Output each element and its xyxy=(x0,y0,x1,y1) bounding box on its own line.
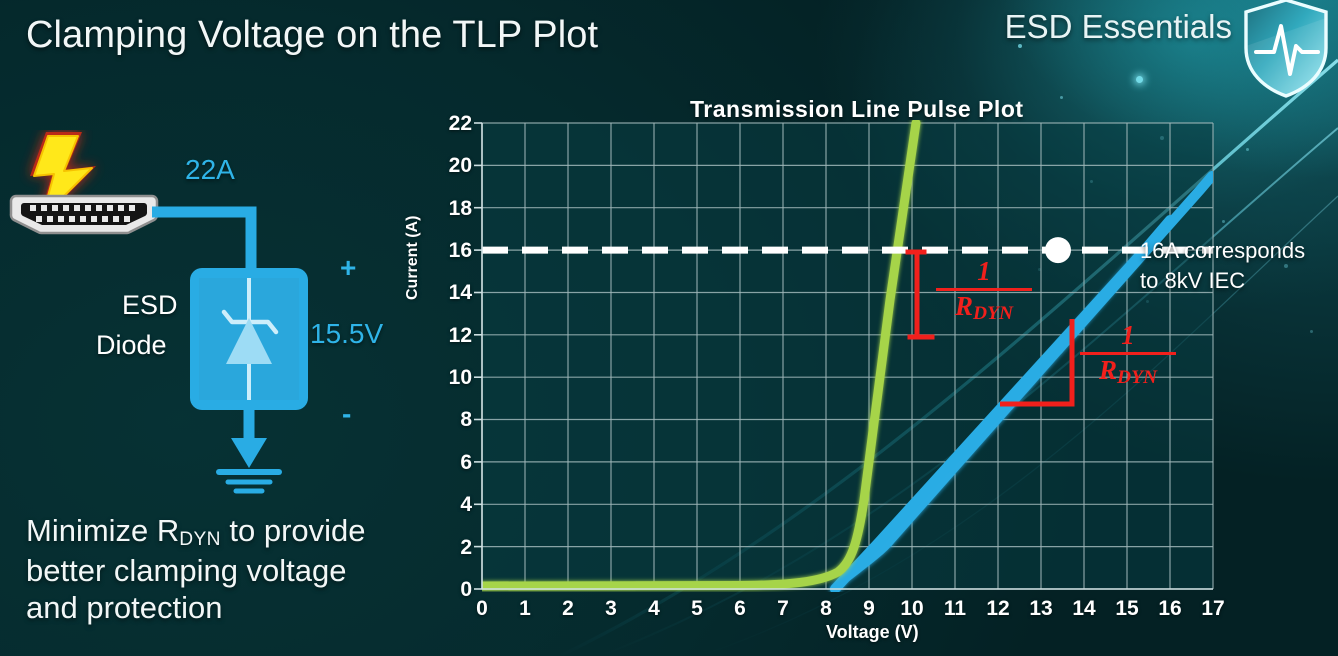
esd-circuit-diagram: 22A ESD Diode 15.5V + - xyxy=(0,140,420,520)
device-label-line2: Diode xyxy=(96,330,167,361)
slide-canvas: Clamping Voltage on the TLP Plot ESD Ess… xyxy=(0,0,1338,656)
y-tick-label: 14 xyxy=(436,281,472,305)
particle-dot xyxy=(1284,264,1288,268)
y-tick-label: 22 xyxy=(436,112,472,136)
x-tick-label: 9 xyxy=(852,597,886,621)
x-tick-label: 17 xyxy=(1196,597,1230,621)
slope-numerator: 1 xyxy=(1080,322,1176,349)
x-tick-label: 8 xyxy=(809,597,843,621)
chart-x-axis-label: Voltage (V) xyxy=(826,622,919,643)
operating-point-marker xyxy=(1045,237,1071,263)
polarity-minus-label: - xyxy=(342,398,351,430)
slope-denominator-sub: DYN xyxy=(973,303,1013,324)
current-label: 22A xyxy=(185,154,235,186)
x-tick-label: 6 xyxy=(723,597,757,621)
slope-numerator: 1 xyxy=(936,258,1032,285)
page-title: Clamping Voltage on the TLP Plot xyxy=(26,14,598,57)
summary-line1-pre: Minimize R xyxy=(26,513,179,548)
x-tick-label: 3 xyxy=(594,597,628,621)
summary-line-3: and protection xyxy=(26,589,446,627)
y-tick-label: 10 xyxy=(436,366,472,390)
particle-dot xyxy=(1060,96,1063,99)
series-blue-high-rdyn-tail xyxy=(835,220,1170,589)
x-tick-label: 11 xyxy=(938,597,972,621)
summary-line-2: better clamping voltage xyxy=(26,552,446,590)
slope-label-blue: 1 RDYN xyxy=(1080,322,1176,388)
y-tick-label: 20 xyxy=(436,154,472,178)
x-tick-label: 14 xyxy=(1067,597,1101,621)
x-tick-label: 0 xyxy=(465,597,499,621)
particle-dot xyxy=(1038,268,1041,271)
series-green-low-rdyn xyxy=(482,123,916,586)
clamp-voltage-label: 15.5V xyxy=(310,318,383,350)
particle-dot xyxy=(1160,136,1164,140)
y-tick-label: 6 xyxy=(436,451,472,475)
y-tick-label: 12 xyxy=(436,324,472,348)
x-tick-label: 15 xyxy=(1110,597,1144,621)
particle-dot xyxy=(1246,148,1249,151)
fraction-bar xyxy=(936,288,1032,291)
x-tick-label: 13 xyxy=(1024,597,1058,621)
slope-denominator: RDYN xyxy=(1080,356,1176,388)
callout-16a-line2: to 8kV IEC xyxy=(1140,268,1245,294)
chart-title: Transmission Line Pulse Plot xyxy=(690,96,1024,123)
slope-marker-blue xyxy=(1000,319,1072,404)
callout-16a-line1: 16A corresponds xyxy=(1140,238,1305,264)
particle-dot xyxy=(1146,300,1149,303)
series-blue-high-rdyn xyxy=(835,255,1140,589)
shield-ecg-icon xyxy=(1238,0,1334,100)
slope-label-green: 1 RDYN xyxy=(936,258,1032,324)
summary-line1-post: to provide xyxy=(221,513,366,548)
y-tick-label: 8 xyxy=(436,408,472,432)
particle-dot xyxy=(1222,220,1225,223)
summary-line1-sub: DYN xyxy=(179,529,220,550)
slope-denominator-base: R xyxy=(955,291,973,321)
summary-text: Minimize RDYN to provide better clamping… xyxy=(26,512,446,627)
x-tick-label: 2 xyxy=(551,597,585,621)
summary-line-1: Minimize RDYN to provide xyxy=(26,512,446,552)
x-tick-label: 1 xyxy=(508,597,542,621)
x-tick-label: 16 xyxy=(1153,597,1187,621)
device-label-line1: ESD xyxy=(122,290,178,321)
x-tick-label: 5 xyxy=(680,597,714,621)
slope-denominator: RDYN xyxy=(936,292,1032,324)
x-tick-label: 10 xyxy=(895,597,929,621)
x-tick-label: 12 xyxy=(981,597,1015,621)
slope-denominator-sub: DYN xyxy=(1117,367,1157,388)
series-blue-upper-tail xyxy=(1058,176,1212,350)
slope-marker-green xyxy=(908,252,932,337)
polarity-plus-label: + xyxy=(340,252,356,284)
brand-label: ESD Essentials xyxy=(1005,8,1232,46)
x-tick-label: 7 xyxy=(766,597,800,621)
particle-dot xyxy=(1090,180,1093,183)
fraction-bar xyxy=(1080,352,1176,355)
particle-dot xyxy=(1136,76,1143,83)
slope-denominator-base: R xyxy=(1099,355,1117,385)
y-tick-label: 16 xyxy=(436,239,472,263)
y-tick-label: 18 xyxy=(436,197,472,221)
particle-dot xyxy=(1310,330,1313,333)
x-tick-label: 4 xyxy=(637,597,671,621)
